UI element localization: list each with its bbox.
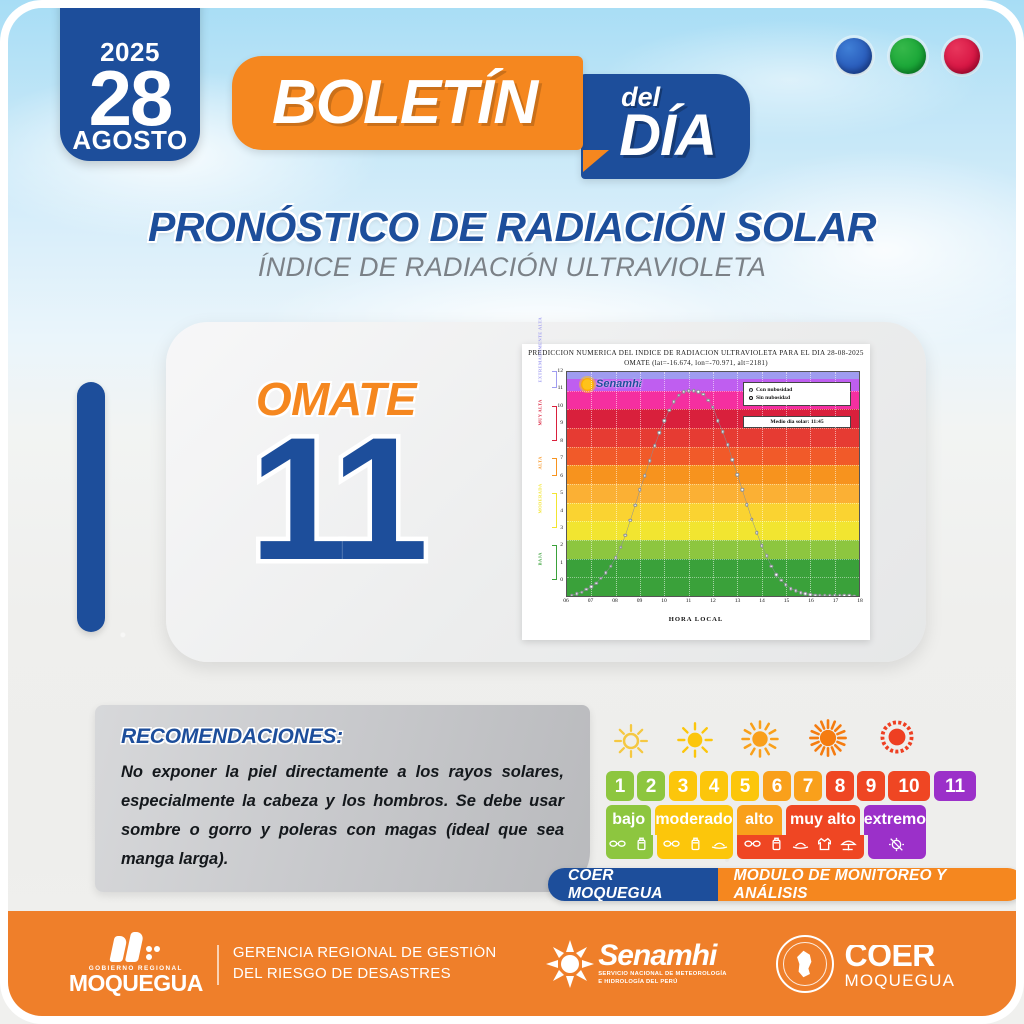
boletin-label: BOLETÍN [272,72,537,134]
senamhi-name: Senamhi [598,941,727,971]
hat-icon [711,837,728,857]
uv-number-cell: 8 [826,771,854,801]
chart-y-tick: 3 [560,525,563,531]
chart-y-tick: 12 [557,368,563,374]
uv-index-scale: 1234567891011 bajomoderadoaltomuy altoex… [606,713,926,859]
dot-blue-icon [836,38,872,74]
senamhi-logo: Senamhi SERVICIO NACIONAL DE METEOROLOGÍ… [546,940,727,988]
coer-name: COER [844,939,955,971]
uv-number-cell: 7 [794,771,822,801]
uv-category-label: moderado [655,805,732,835]
gerencia-line-1: GERENCIA REGIONAL DE GESTIÓN [233,943,497,963]
uv-protection-icon-row [606,835,926,859]
chart-x-tick: 12 [710,598,716,604]
uv-number-cell: 5 [731,771,759,801]
uv-number-cell: 10 [888,771,930,801]
coer-text-block: COER MOQUEGUA [844,939,955,989]
sunglasses-icon [609,837,626,857]
uv-number-cell: 9 [857,771,885,801]
chart-category-bracket [552,493,557,528]
uv-index-value: 11 [186,412,486,587]
footer-moquegua-group: GOBIERNO REGIONAL MOQUEGUA GERENCIA REGI… [69,932,497,995]
uv-number-group: 11 [934,771,976,801]
uv-forecast-chart: PREDICCION NUMERICA DEL INDICE DE RADIAC… [522,344,870,640]
chart-x-tick: 17 [833,598,839,604]
page-title: PRONÓSTICO DE RADIACIÓN SOLAR [0,204,1024,251]
chart-x-tick: 08 [612,598,618,604]
chart-subtitle: OMATE (lat=-16.674, lon=-70.971, alt=218… [528,359,864,367]
chart-x-tick: 14 [759,598,765,604]
chart-x-tick: 11 [686,598,691,604]
hat-icon [792,837,809,857]
moquegua-bar [125,932,144,962]
recommendations-panel: RECOMENDACIONES: No exponer la piel dire… [95,705,590,892]
chart-category-bracket [552,371,557,388]
chart-y-tick: 11 [558,385,563,391]
chart-y-tick: 6 [560,473,563,479]
uv-number-row: 1234567891011 [606,771,926,801]
senamhi-sub-1: SERVICIO NACIONAL DE METEOROLOGÍA [598,971,727,978]
chart-y-tick: 5 [560,490,563,496]
senamhi-text-block: Senamhi SERVICIO NACIONAL DE METEOROLOGÍ… [598,941,727,985]
chart-x-tick: 15 [784,598,790,604]
sunscreen-icon [687,837,704,857]
decorative-dots [836,38,980,74]
recommendations-text: No exponer la piel directamente a los ra… [121,758,564,874]
sunglasses-icon [744,837,761,857]
chart-category-label: BAJA [538,552,543,565]
uv-number-cell: 3 [669,771,697,801]
uv-number-cell: 4 [700,771,728,801]
chart-category-label: EXTREMADAMENTE ALTA [538,317,543,383]
dia-label: DÍA [619,107,716,165]
chart-plot-area: CATEGORIA DE EXPOSICION BAJAMODERADAALTA… [566,371,860,615]
page-subtitle: ÍNDICE DE RADIACIÓN ULTRAVIOLETA [0,252,1024,283]
uv-number-group: 345 [669,771,759,801]
footer-bar: GOBIERNO REGIONAL MOQUEGUA GERENCIA REGI… [8,911,1016,1016]
uv-protection-group [737,835,864,859]
sunglasses-icon [663,837,680,857]
moquegua-dot [146,946,152,952]
chart-x-tick: 16 [808,598,814,604]
chart-y-tick: 0 [560,577,563,583]
moquegua-dots [146,946,160,960]
gerencia-line-2: DEL RIESGO DE DESASTRES [233,964,497,984]
no-sun-icon [888,837,905,857]
coer-region: MOQUEGUA [844,972,955,989]
title-ribbon: BOLETÍN del DÍA [232,56,750,179]
uv-category-label: muy alto [786,805,860,835]
chart-title: PREDICCION NUMERICA DEL INDICE DE RADIAC… [528,348,864,359]
chart-category-label: MODERADA [538,483,543,513]
chart-x-tick: 10 [661,598,667,604]
recommendations-title: RECOMENDACIONES: [121,725,564,749]
sun-icon-low [612,722,650,765]
chart-x-axis-label: HORA LOCAL [528,616,864,623]
chart-y-tick: 9 [560,420,563,426]
footer-divider [217,943,219,985]
uv-category-label: extremo [864,805,926,835]
sun-icon-very-high [806,716,850,765]
uv-number-cell: 2 [637,771,665,801]
sun-icon-extreme [874,714,920,765]
uv-protection-group [606,835,653,859]
chart-x-tick: 18 [857,598,863,604]
uv-number-cell: 6 [763,771,791,801]
moquegua-dot [146,954,152,960]
senamhi-sub-2: E HIDROLOGÍA DEL PERÚ [598,979,727,986]
uv-number-group: 12 [606,771,665,801]
sun-icons-row [606,713,926,771]
moquegua-logo: GOBIERNO REGIONAL MOQUEGUA [69,932,203,995]
uv-number-cell: 1 [606,771,634,801]
coer-strip-left: COER MOQUEGUA [548,868,718,901]
uv-category-label: alto [737,805,782,835]
chart-y-tick: 4 [560,508,563,514]
moquegua-dot [154,946,160,952]
chart-y-tick: 7 [560,455,563,461]
chart-y-tick: 8 [560,438,563,444]
ribbon-orange-panel: BOLETÍN [232,56,583,150]
coer-strip: COER MOQUEGUA MÓDULO DE MONITOREO Y ANÁL… [548,868,1024,901]
uv-number-group: 8910 [826,771,930,801]
senamhi-sun-icon [546,940,594,988]
moquegua-name: MOQUEGUA [69,972,203,995]
dot-red-icon [944,38,980,74]
chart-plot-box: Senamhi Con nubosidad Sin nubosidad Medi… [566,371,860,597]
chart-y-tick: 1 [560,560,563,566]
coer-logo: COER MOQUEGUA [776,935,955,993]
uv-number-group: 67 [763,771,822,801]
parasol-icon [840,837,857,857]
shirt-icon [816,837,833,857]
uv-protection-group [868,835,926,859]
dot-green-icon [890,38,926,74]
coer-strip-right: MÓDULO DE MONITOREO Y ANÁLISIS [718,868,1024,901]
date-badge: 2025 28 AGOSTO [60,0,200,161]
uv-category-label: bajo [606,805,651,835]
blue-accent-bar [77,382,105,632]
chart-x-ticks: 06070809101112131415161718 [566,597,860,615]
chart-x-tick: 13 [735,598,741,604]
moquegua-mark-icon [112,932,160,962]
chart-x-tick: 06 [563,598,569,604]
sunscreen-icon [768,837,785,857]
chart-y-tick: 10 [557,403,563,409]
coer-seal-icon [776,935,834,993]
chart-category-bracket [552,545,557,580]
chart-y-tick: 2 [560,542,563,548]
chart-x-tick: 09 [637,598,643,604]
sunscreen-icon [633,837,650,857]
uv-number-cell: 11 [934,771,976,801]
gerencia-text: GERENCIA REGIONAL DE GESTIÓN DEL RIESGO … [233,943,497,984]
chart-category-bracket [552,406,557,441]
chart-x-tick: 07 [588,598,594,604]
sun-icon-high [739,718,781,765]
chart-category-bracket [552,458,557,475]
sun-icon-moderate [675,720,715,765]
date-day: 28 [89,61,172,135]
uv-category-label-row: bajomoderadoaltomuy altoextremo [606,805,926,835]
chart-category-label: ALTA [538,456,543,469]
uv-protection-group [657,835,733,859]
chart-category-label: MUY ALTA [538,400,543,426]
date-month: AGOSTO [72,127,187,153]
